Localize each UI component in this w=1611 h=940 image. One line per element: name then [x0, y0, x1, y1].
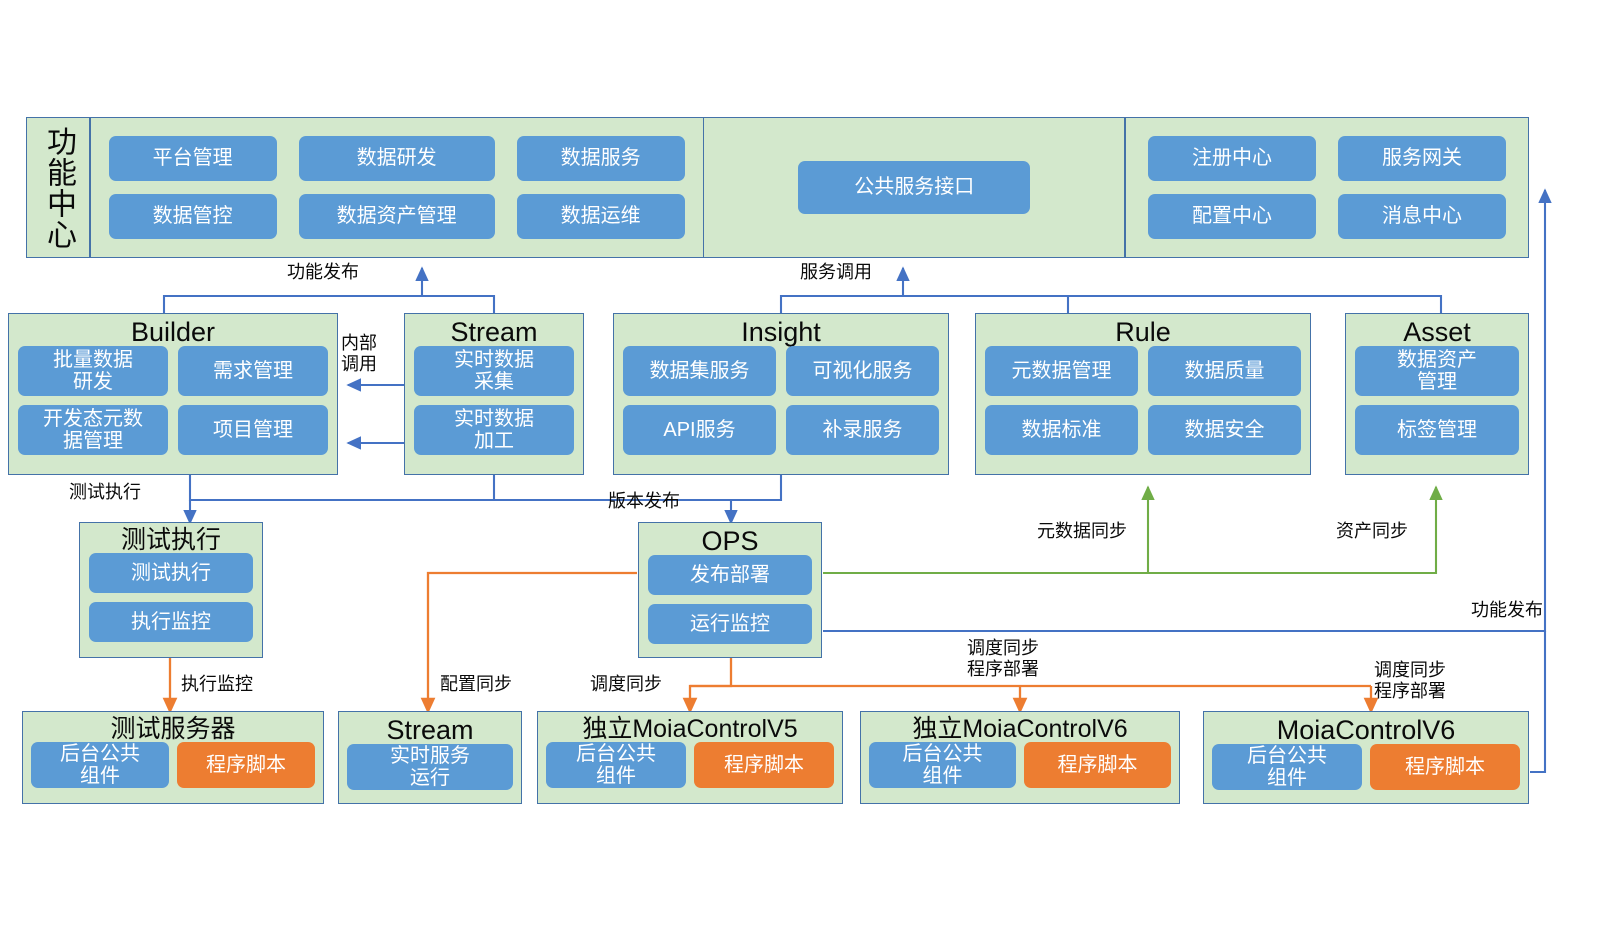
chip-realtime-data-collect[interactable]: 实时数据 采集 — [414, 346, 574, 396]
fc-column: 服务网关 消息中心 — [1338, 136, 1506, 239]
edge-label-feature-publish-right: 功能发布 — [1471, 600, 1543, 621]
panel-stream-server[interactable]: Stream 实时服务 运行 — [338, 711, 522, 804]
chip-runtime-monitor[interactable]: 运行监控 — [648, 604, 812, 644]
architecture-diagram: 功能中心 平台管理 数据管控 数据研发 数据资产管理 数据服务 数据运维 公共服… — [0, 0, 1611, 940]
function-center-group-core: 平台管理 数据管控 数据研发 数据资产管理 数据服务 数据运维 — [91, 118, 703, 257]
fc-chip-data-service[interactable]: 数据服务 — [517, 136, 685, 181]
function-center-group-infra: 注册中心 配置中心 服务网关 消息中心 — [1126, 118, 1528, 257]
panel-rule[interactable]: Rule 元数据管理 数据标准 数据质量 数据安全 — [975, 313, 1311, 475]
chip-program-script[interactable]: 程序脚本 — [694, 742, 834, 788]
chip-execution-monitor[interactable]: 执行监控 — [89, 602, 253, 642]
panel-moia-v6-standalone[interactable]: 独立MoiaControlV6 后台公共 组件 程序脚本 — [860, 711, 1180, 804]
chip-backend-common-component[interactable]: 后台公共 组件 — [869, 742, 1016, 788]
function-center-band: 功能中心 平台管理 数据管控 数据研发 数据资产管理 数据服务 数据运维 公共服… — [26, 117, 1529, 258]
fc-chip-service-gateway[interactable]: 服务网关 — [1338, 136, 1506, 181]
panel-title: Rule — [1115, 318, 1171, 346]
panel-title: Stream — [450, 318, 537, 346]
panel-title: Insight — [741, 318, 821, 346]
chip-program-script[interactable]: 程序脚本 — [1370, 744, 1520, 790]
edge-label-test-exec: 测试执行 — [69, 482, 141, 503]
panel-builder[interactable]: Builder 批量数据 研发 开发态元数 据管理 需求管理 项目管理 — [8, 313, 338, 475]
edge-label-metadata-sync: 元数据同步 — [1037, 521, 1127, 542]
chip-tag-mgmt[interactable]: 标签管理 — [1355, 405, 1519, 455]
panel-test-server[interactable]: 测试服务器 后台公共 组件 程序脚本 — [22, 711, 324, 804]
chip-api-service[interactable]: API服务 — [623, 405, 776, 455]
chip-realtime-service-run[interactable]: 实时服务 运行 — [347, 744, 513, 790]
panel-moia-v5-standalone[interactable]: 独立MoiaControlV5 后台公共 组件 程序脚本 — [537, 711, 843, 804]
chip-dev-metadata-mgmt[interactable]: 开发态元数 据管理 — [18, 405, 168, 455]
function-center-group-public: 公共服务接口 — [704, 118, 1124, 257]
edge-label-exec-monitor: 执行监控 — [181, 674, 253, 695]
chip-data-security[interactable]: 数据安全 — [1148, 405, 1301, 455]
chip-program-script[interactable]: 程序脚本 — [1024, 742, 1171, 788]
chip-visualization-service[interactable]: 可视化服务 — [786, 346, 939, 396]
fc-chip-message-center[interactable]: 消息中心 — [1338, 194, 1506, 239]
chip-data-quality[interactable]: 数据质量 — [1148, 346, 1301, 396]
fc-chip-data-ops[interactable]: 数据运维 — [517, 194, 685, 239]
edge-label-config-sync: 配置同步 — [440, 674, 512, 695]
panel-stream[interactable]: Stream 实时数据 采集 实时数据 加工 — [404, 313, 584, 475]
fc-chip-data-asset-mgmt[interactable]: 数据资产管理 — [299, 194, 495, 239]
panel-title: 独立MoiaControlV6 — [912, 716, 1127, 742]
function-center-label: 功能中心 — [27, 118, 89, 257]
panel-title: MoiaControlV6 — [1277, 716, 1456, 744]
chip-data-standard[interactable]: 数据标准 — [985, 405, 1138, 455]
panel-title: Builder — [131, 318, 215, 346]
panel-title: Asset — [1403, 318, 1471, 346]
panel-insight[interactable]: Insight 数据集服务 API服务 可视化服务 补录服务 — [613, 313, 949, 475]
fc-column: 注册中心 配置中心 — [1148, 136, 1316, 239]
chip-batch-data-dev[interactable]: 批量数据 研发 — [18, 346, 168, 396]
chip-metadata-mgmt[interactable]: 元数据管理 — [985, 346, 1138, 396]
panel-title: 测试执行 — [121, 527, 221, 553]
fc-chip-public-service-api[interactable]: 公共服务接口 — [798, 161, 1030, 214]
edge-label-service-call: 服务调用 — [800, 262, 872, 283]
fc-column: 平台管理 数据管控 — [109, 136, 277, 239]
fc-column: 数据服务 数据运维 — [517, 136, 685, 239]
chip-backend-common-component[interactable]: 后台公共 组件 — [546, 742, 686, 788]
fc-chip-data-governance[interactable]: 数据管控 — [109, 194, 277, 239]
chip-release-deploy[interactable]: 发布部署 — [648, 555, 812, 595]
edge-label-feature-publish-top: 功能发布 — [287, 262, 359, 283]
panel-moia-v6[interactable]: MoiaControlV6 后台公共 组件 程序脚本 — [1203, 711, 1529, 804]
chip-backend-common-component[interactable]: 后台公共 组件 — [31, 742, 169, 788]
chip-requirement-mgmt[interactable]: 需求管理 — [178, 346, 328, 396]
panel-title: OPS — [701, 527, 758, 555]
edge-label-version-publish: 版本发布 — [608, 491, 680, 512]
chip-dataset-service[interactable]: 数据集服务 — [623, 346, 776, 396]
panel-asset[interactable]: Asset 数据资产 管理 标签管理 — [1345, 313, 1529, 475]
fc-chip-registry-center[interactable]: 注册中心 — [1148, 136, 1316, 181]
fc-chip-data-dev[interactable]: 数据研发 — [299, 136, 495, 181]
panel-title: 测试服务器 — [110, 716, 235, 742]
chip-project-mgmt[interactable]: 项目管理 — [178, 405, 328, 455]
chip-program-script[interactable]: 程序脚本 — [177, 742, 315, 788]
edge-label-schedule-sync: 调度同步 — [590, 674, 662, 695]
chip-realtime-data-process[interactable]: 实时数据 加工 — [414, 405, 574, 455]
edge-label-asset-sync: 资产同步 — [1336, 521, 1408, 542]
fc-chip-platform-mgmt[interactable]: 平台管理 — [109, 136, 277, 181]
chip-data-asset-mgmt[interactable]: 数据资产 管理 — [1355, 346, 1519, 396]
fc-chip-config-center[interactable]: 配置中心 — [1148, 194, 1316, 239]
chip-test-execution[interactable]: 测试执行 — [89, 553, 253, 593]
fc-column: 数据研发 数据资产管理 — [299, 136, 495, 239]
chip-supplement-service[interactable]: 补录服务 — [786, 405, 939, 455]
chip-backend-common-component[interactable]: 后台公共 组件 — [1212, 744, 1362, 790]
panel-test-execution[interactable]: 测试执行 测试执行 执行监控 — [79, 522, 263, 658]
panel-title: Stream — [386, 716, 473, 744]
edge-label-schedule-sync-deploy-right: 调度同步 程序部署 — [1374, 660, 1446, 702]
panel-title: 独立MoiaControlV5 — [582, 716, 797, 742]
edge-label-internal-call: 内部 调用 — [341, 333, 377, 375]
panel-ops[interactable]: OPS 发布部署 运行监控 — [638, 522, 822, 658]
edge-label-schedule-sync-deploy-mid: 调度同步 程序部署 — [967, 638, 1039, 680]
